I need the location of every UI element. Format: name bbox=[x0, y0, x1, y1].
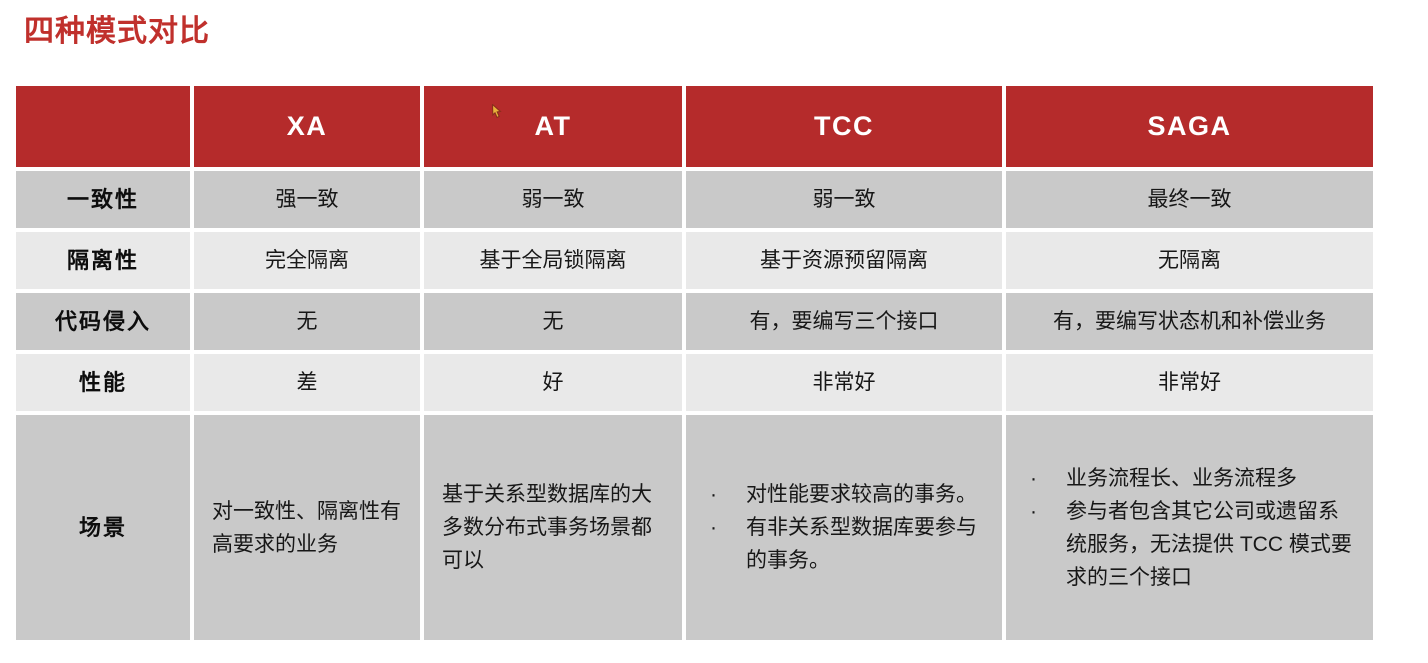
list-item: · 有非关系型数据库要参与的事务。 bbox=[704, 511, 988, 577]
cell-isolation-saga: 无隔离 bbox=[1006, 232, 1373, 293]
list-item: · 对性能要求较高的事务。 bbox=[704, 478, 988, 511]
column-header-xa: XA bbox=[194, 86, 424, 171]
table-header-row: XA AT TCC SAGA bbox=[16, 86, 1373, 171]
list-item-label: 对性能要求较高的事务。 bbox=[746, 483, 977, 506]
slide-canvas: 四种模式对比 XA AT TCC SAGA 一致性 强一致 弱一致 bbox=[0, 0, 1428, 663]
comparison-table: XA AT TCC SAGA 一致性 强一致 弱一致 弱一致 最终一致 隔离性 … bbox=[16, 86, 1373, 640]
column-header-at: AT bbox=[424, 86, 686, 171]
cell-scenario-tcc: · 对性能要求较高的事务。 · 有非关系型数据库要参与的事务。 bbox=[686, 415, 1006, 640]
table-row: 隔离性 完全隔离 基于全局锁隔离 基于资源预留隔离 无隔离 bbox=[16, 232, 1373, 293]
row-label-code-intrusion: 代码侵入 bbox=[16, 293, 194, 354]
row-label-scenario: 场景 bbox=[16, 415, 194, 640]
cell-performance-at: 好 bbox=[424, 354, 686, 415]
cell-code-intrusion-tcc: 有，要编写三个接口 bbox=[686, 293, 1006, 354]
cell-isolation-tcc: 基于资源预留隔离 bbox=[686, 232, 1006, 293]
table-row: 场景 对一致性、隔离性有高要求的业务 基于关系型数据库的大多数分布式事务场景都可… bbox=[16, 415, 1373, 640]
table-row: 性能 差 好 非常好 非常好 bbox=[16, 354, 1373, 415]
column-header-saga: SAGA bbox=[1006, 86, 1373, 171]
list-item-label: 业务流程长、业务流程多 bbox=[1066, 467, 1297, 490]
table-body: 一致性 强一致 弱一致 弱一致 最终一致 隔离性 完全隔离 基于全局锁隔离 基于… bbox=[16, 171, 1373, 640]
column-header-blank bbox=[16, 86, 194, 171]
cell-code-intrusion-xa: 无 bbox=[194, 293, 424, 354]
table-row: 一致性 强一致 弱一致 弱一致 最终一致 bbox=[16, 171, 1373, 232]
table-header: XA AT TCC SAGA bbox=[16, 86, 1373, 171]
list-item-label: 参与者包含其它公司或遗留系统服务，无法提供 TCC 模式要求的三个接口 bbox=[1066, 500, 1352, 589]
page-title: 四种模式对比 bbox=[24, 12, 210, 52]
cell-performance-tcc: 非常好 bbox=[686, 354, 1006, 415]
list-item-label: 有非关系型数据库要参与的事务。 bbox=[746, 516, 977, 572]
cell-consistency-at: 弱一致 bbox=[424, 171, 686, 232]
row-label-consistency: 一致性 bbox=[16, 171, 194, 232]
cell-code-intrusion-at: 无 bbox=[424, 293, 686, 354]
scenario-xa-text: 对一致性、隔离性有高要求的业务 bbox=[212, 495, 406, 561]
cell-consistency-tcc: 弱一致 bbox=[686, 171, 1006, 232]
cell-consistency-saga: 最终一致 bbox=[1006, 171, 1373, 232]
cell-scenario-xa: 对一致性、隔离性有高要求的业务 bbox=[194, 415, 424, 640]
bullet-icon: · bbox=[710, 511, 717, 544]
list-item: · 参与者包含其它公司或遗留系统服务，无法提供 TCC 模式要求的三个接口 bbox=[1024, 495, 1359, 594]
list-item: · 业务流程长、业务流程多 bbox=[1024, 462, 1359, 495]
cell-isolation-xa: 完全隔离 bbox=[194, 232, 424, 293]
cell-code-intrusion-saga: 有，要编写状态机和补偿业务 bbox=[1006, 293, 1373, 354]
scenario-at-text: 基于关系型数据库的大多数分布式事务场景都可以 bbox=[442, 478, 668, 577]
row-label-isolation: 隔离性 bbox=[16, 232, 194, 293]
column-header-tcc: TCC bbox=[686, 86, 1006, 171]
scenario-tcc-list: · 对性能要求较高的事务。 · 有非关系型数据库要参与的事务。 bbox=[704, 478, 988, 577]
cell-scenario-at: 基于关系型数据库的大多数分布式事务场景都可以 bbox=[424, 415, 686, 640]
cell-performance-saga: 非常好 bbox=[1006, 354, 1373, 415]
cell-isolation-at: 基于全局锁隔离 bbox=[424, 232, 686, 293]
table-row: 代码侵入 无 无 有，要编写三个接口 有，要编写状态机和补偿业务 bbox=[16, 293, 1373, 354]
bullet-icon: · bbox=[710, 478, 717, 511]
cell-performance-xa: 差 bbox=[194, 354, 424, 415]
row-label-performance: 性能 bbox=[16, 354, 194, 415]
bullet-icon: · bbox=[1030, 495, 1037, 528]
bullet-icon: · bbox=[1030, 462, 1037, 495]
scenario-saga-list: · 业务流程长、业务流程多 · 参与者包含其它公司或遗留系统服务，无法提供 TC… bbox=[1024, 462, 1359, 594]
cell-consistency-xa: 强一致 bbox=[194, 171, 424, 232]
cell-scenario-saga: · 业务流程长、业务流程多 · 参与者包含其它公司或遗留系统服务，无法提供 TC… bbox=[1006, 415, 1373, 640]
